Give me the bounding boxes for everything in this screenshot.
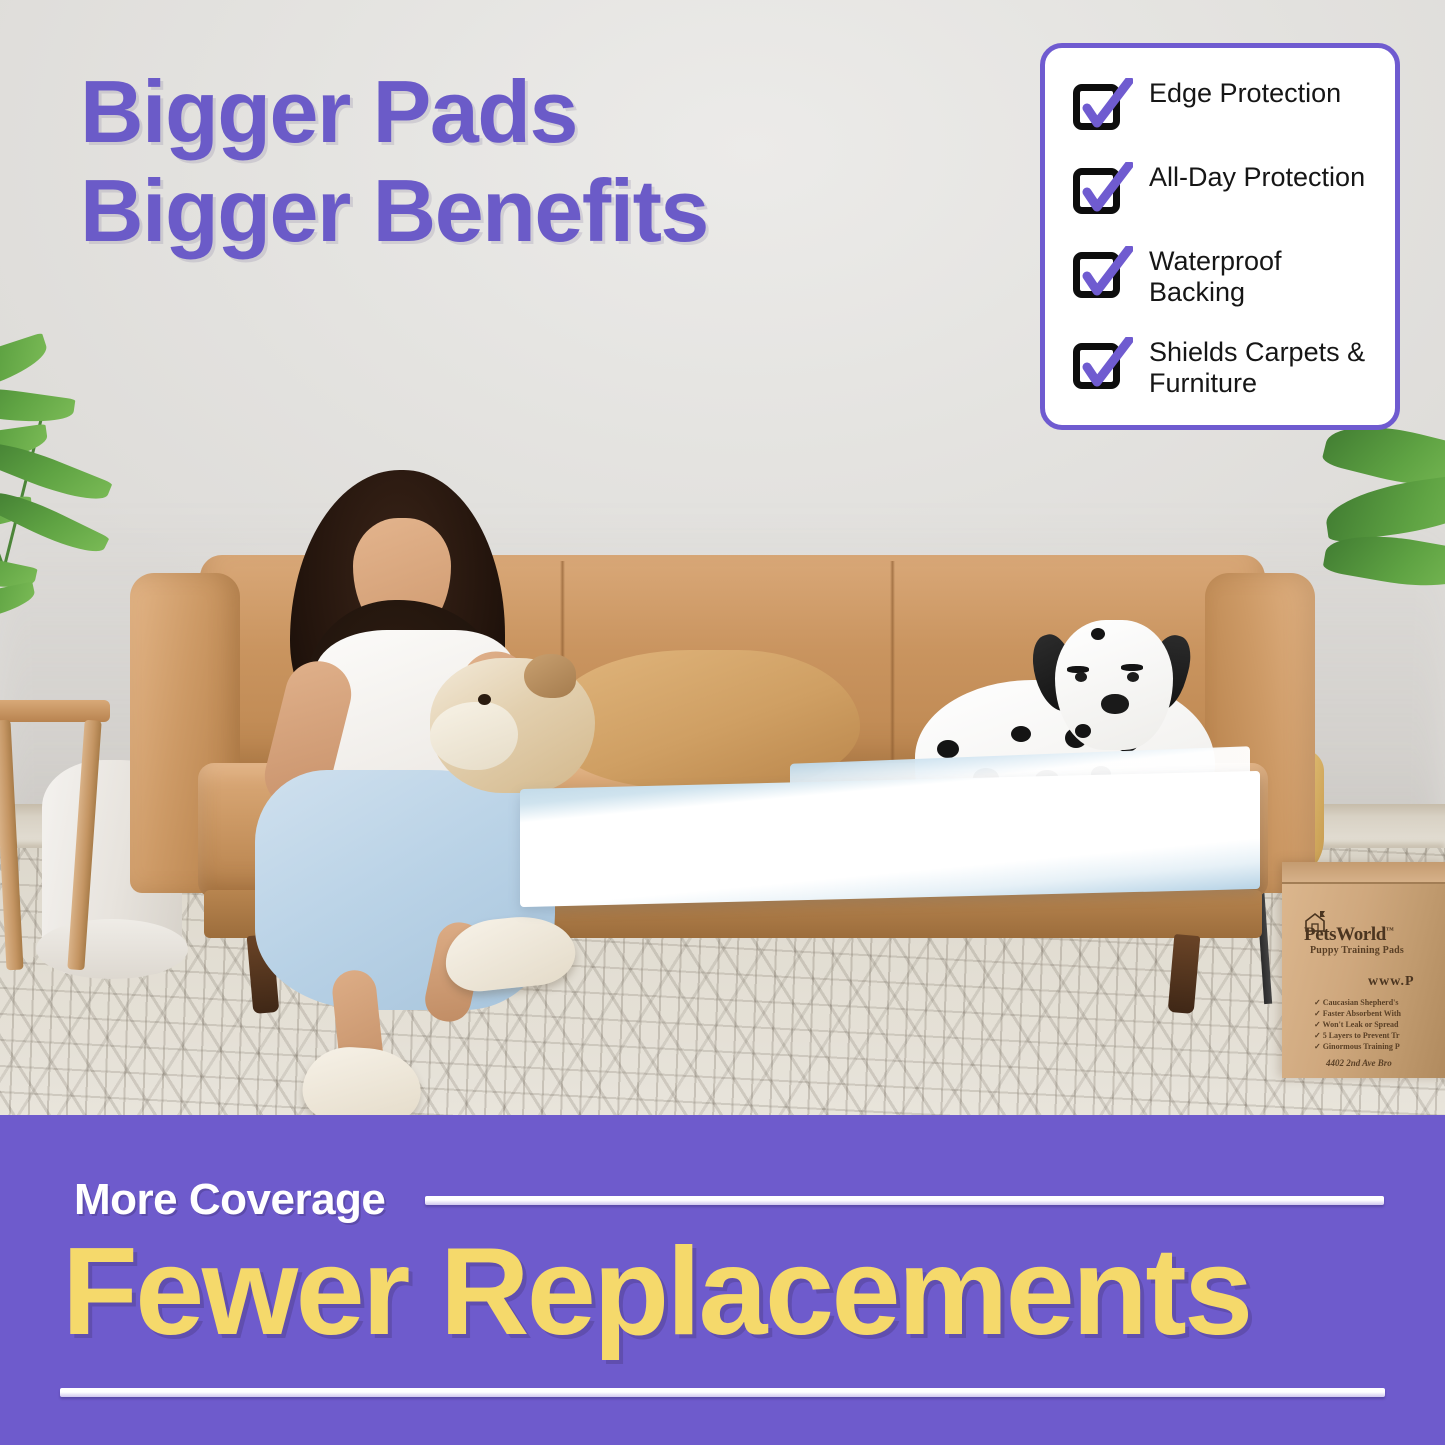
checklist-item: Shields Carpets & Furniture (1069, 335, 1371, 400)
checkbox-checked-icon (1069, 337, 1131, 393)
checkbox-checked-icon (1069, 78, 1131, 134)
checklist-item-label: Edge Protection (1149, 76, 1341, 109)
checklist-item: Edge Protection (1069, 76, 1371, 134)
box-website: www.P (1368, 974, 1415, 990)
banner-rule-bottom (60, 1388, 1385, 1397)
product-marketing-image: PetsWorld™ Puppy Training Pads www.P ✓ C… (0, 0, 1445, 1445)
box-feature-list: ✓ Caucasian Shepherd's ✓ Faster Absorben… (1314, 997, 1445, 1052)
main-headline: Bigger Pads Bigger Benefits (80, 62, 708, 261)
headline-line-2: Bigger Benefits (80, 161, 708, 260)
side-stool-left (0, 700, 110, 970)
banner-eyebrow: More Coverage (74, 1175, 385, 1225)
headline-line-1: Bigger Pads (80, 62, 577, 161)
checklist-item-label: Shields Carpets & Furniture (1149, 335, 1371, 400)
box-brand-logo: PetsWorld™ (1304, 924, 1394, 946)
box-subtitle: Puppy Training Pads (1310, 945, 1404, 956)
box-bullet: ✓ 5 Layers to Prevent Tr (1314, 1030, 1445, 1041)
box-bullet: ✓ Ginormous Training P (1314, 1041, 1445, 1052)
box-bullet: ✓ Faster Absorbent With (1314, 1008, 1445, 1019)
checkbox-checked-icon (1069, 246, 1131, 302)
banner-headline: Fewer Replacements (62, 1230, 1392, 1354)
benefits-checklist-card: Edge Protection All-Day Protection Water… (1040, 43, 1400, 430)
checklist-item-label: Waterproof Backing (1149, 244, 1371, 309)
box-bullet: ✓ Won't Leak or Spread (1314, 1019, 1445, 1030)
training-pad (520, 771, 1260, 907)
box-bullet: ✓ Caucasian Shepherd's (1314, 997, 1445, 1008)
banner-rule-top (425, 1196, 1384, 1205)
box-address: 4402 2nd Ave Bro (1326, 1058, 1392, 1068)
banner-eyebrow-row: More Coverage (74, 1175, 1384, 1225)
checklist-item-label: All-Day Protection (1149, 160, 1365, 193)
bottom-banner: More Coverage Fewer Replacements (0, 1115, 1445, 1445)
checklist-item: All-Day Protection (1069, 160, 1371, 218)
checkbox-checked-icon (1069, 162, 1131, 218)
checklist-item: Waterproof Backing (1069, 244, 1371, 309)
product-box: PetsWorld™ Puppy Training Pads www.P ✓ C… (1282, 862, 1445, 1078)
